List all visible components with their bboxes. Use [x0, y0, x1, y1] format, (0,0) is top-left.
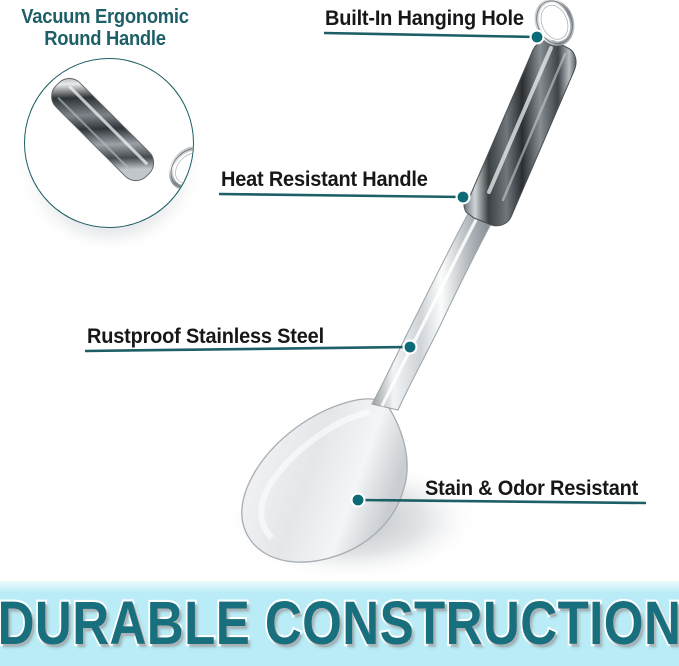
leader-line-stain-odor — [359, 500, 646, 503]
dot-rustproof-core — [405, 342, 416, 353]
inset-detail-circle — [24, 58, 194, 228]
infographic-canvas: Built-In Hanging Hole Heat Resistant Han… — [0, 0, 679, 666]
callout-label-stain-odor-resistant: Stain & Odor Resistant — [425, 478, 638, 499]
dot-heat-resistant-core — [458, 192, 469, 203]
dot-hanging-hole-core — [532, 32, 543, 43]
dot-stain-odor-core — [353, 495, 364, 506]
leader-line-hanging-hole — [324, 33, 536, 37]
callout-label-rustproof-stainless-steel: Rustproof Stainless Steel — [87, 326, 324, 347]
inset-handle-closeup — [25, 59, 193, 227]
leader-line-heat-resistant — [219, 194, 462, 197]
banner-headline: DURABLE CONSTRUCTION — [0, 593, 679, 654]
inset-title: Vacuum Ergonomic Round Handle — [8, 6, 201, 50]
inset-title-line-2: Round Handle — [8, 28, 201, 50]
bottom-banner: DURABLE CONSTRUCTION — [0, 581, 679, 666]
callout-label-hanging-hole: Built-In Hanging Hole — [325, 8, 524, 29]
callout-label-heat-resistant-handle: Heat Resistant Handle — [221, 169, 428, 190]
inset-handle-tube — [45, 72, 160, 187]
inset-title-line-1: Vacuum Ergonomic — [8, 6, 201, 28]
